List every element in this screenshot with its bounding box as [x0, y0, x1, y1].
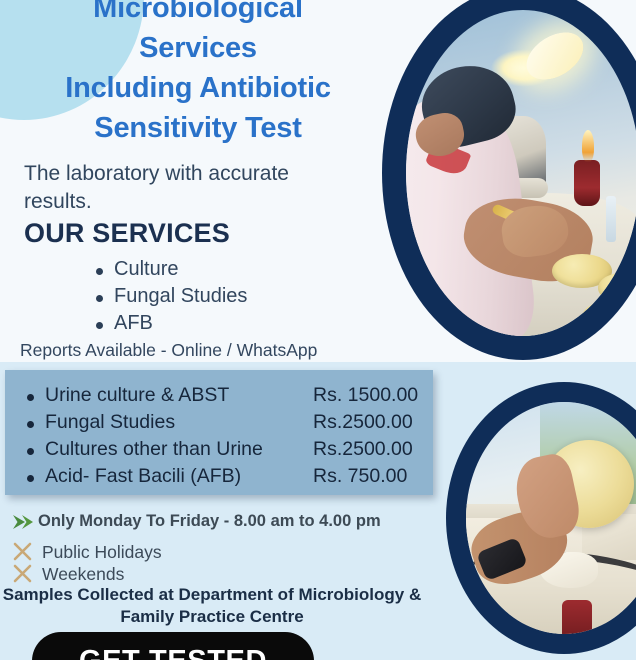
price-value: Rs. 750.00	[313, 465, 407, 488]
collection-line-2: Family Practice Centre	[0, 606, 424, 628]
bullet-dot-icon	[96, 322, 103, 329]
bunsen-burner-shape	[574, 160, 600, 206]
price-name: Cultures other than Urine	[45, 438, 263, 461]
services-heading: OUR SERVICES	[24, 218, 230, 249]
lab-technician-photo	[406, 10, 636, 336]
table-row: Acid- Fast Bacili (AFB) Rs. 750.00	[27, 465, 241, 488]
bunsen-burner-shape	[562, 600, 592, 634]
microbiology-services-poster: Microbiological Services Including Antib…	[0, 0, 636, 660]
petri-dish-held-photo	[466, 402, 636, 634]
bullet-dot-icon	[96, 268, 103, 275]
service-label: Culture	[114, 256, 178, 283]
table-row: Fungal Studies Rs.2500.00	[27, 411, 175, 434]
collection-line-1: Samples Collected at Department of Micro…	[0, 584, 424, 606]
title-line-4: Sensitivity Test	[0, 108, 396, 148]
bullet-dot-icon	[27, 421, 34, 428]
list-item: AFB	[96, 310, 247, 337]
sample-collection-note: Samples Collected at Department of Micro…	[0, 584, 424, 628]
title-line-3: Including Antibiotic	[0, 68, 396, 108]
price-panel: Urine culture & ABST Rs. 1500.00 Fungal …	[5, 370, 433, 495]
price-value: Rs. 1500.00	[313, 384, 418, 407]
bullet-dot-icon	[27, 448, 34, 455]
price-name: Acid- Fast Bacili (AFB)	[45, 465, 241, 488]
x-mark-icon	[13, 564, 32, 583]
bullet-dot-icon	[96, 295, 103, 302]
flame-shape	[582, 130, 594, 162]
opening-hours: Only Monday To Friday - 8.00 am to 4.00 …	[38, 512, 381, 531]
bullet-dot-icon	[27, 394, 34, 401]
get-tested-button[interactable]: GET TESTED	[32, 632, 314, 660]
closed-day-label: Public Holidays	[42, 542, 162, 563]
x-mark-icon	[13, 542, 32, 561]
table-row: Urine culture & ABST Rs. 1500.00	[27, 384, 229, 407]
price-value: Rs.2500.00	[313, 411, 413, 434]
list-item: Culture	[96, 256, 247, 283]
bullet-dot-icon	[27, 475, 34, 482]
test-tube-shape	[606, 196, 616, 242]
petri-dish-shape	[582, 300, 636, 334]
page-title: Microbiological Services Including Antib…	[0, 0, 396, 148]
title-line-2: Services	[0, 28, 396, 68]
reports-availability-note: Reports Available - Online / WhatsApp	[20, 340, 317, 361]
price-value: Rs.2500.00	[313, 438, 413, 461]
table-row: Cultures other than Urine Rs.2500.00	[27, 438, 263, 461]
service-label: AFB	[114, 310, 153, 337]
price-name: Fungal Studies	[45, 411, 175, 434]
title-line-1: Microbiological	[0, 0, 396, 28]
top-photo-circle	[382, 0, 636, 360]
green-arrow-icon	[12, 514, 34, 530]
list-item: Fungal Studies	[96, 283, 247, 310]
services-list: Culture Fungal Studies AFB	[96, 256, 247, 337]
service-label: Fungal Studies	[114, 283, 247, 310]
price-name: Urine culture & ABST	[45, 384, 229, 407]
closed-day-label: Weekends	[42, 564, 124, 585]
tagline: The laboratory with accurate results.	[24, 160, 354, 216]
lamp-shape	[518, 23, 592, 90]
